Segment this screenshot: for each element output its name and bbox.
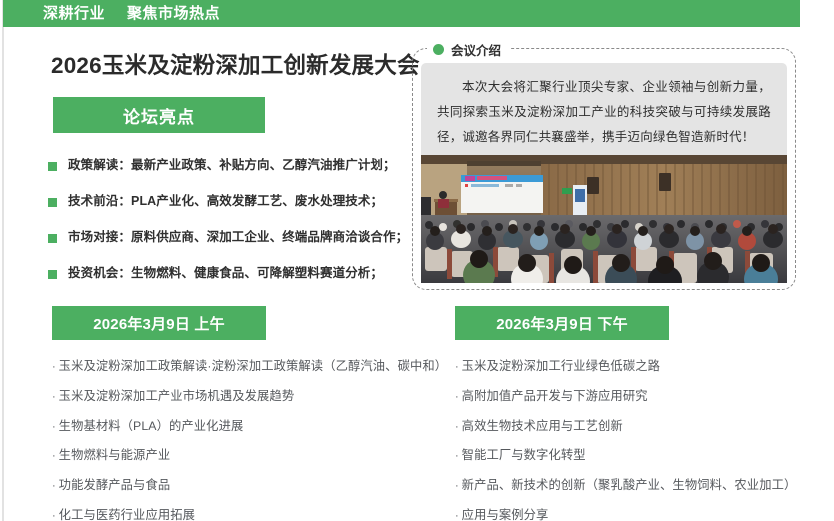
square-bullet-icon (48, 198, 57, 207)
agenda-topics-afternoon: · 玉米及淀粉深加工行业绿色低碳之路 · 高附加值产品开发与下游应用研究 · 高… (455, 359, 815, 521)
list-item: · 玉米及淀粉深加工行业绿色低碳之路 (455, 359, 815, 374)
list-item: · 高效生物技术应用与工艺创新 (455, 419, 815, 434)
agenda-topic: 玉米及淀粉深加工行业绿色低碳之路 (462, 359, 660, 374)
conference-intro-panel: 会议介绍 本次大会将汇聚行业顶尖专家、企业领袖与创新力量，共同探索玉米及淀粉深加… (412, 48, 796, 290)
ribbon-left-text: 深耕行业 (43, 6, 105, 21)
square-bullet-icon (48, 162, 57, 171)
agenda-date-bar-afternoon: 2026年3月9日 下午 (455, 306, 669, 340)
dot-bullet-icon: · (52, 481, 56, 492)
list-item: 政策解读：最新产业政策、补贴方向、乙醇汽油推广计划； (48, 158, 408, 172)
left-edge-rule (2, 0, 4, 521)
dot-bullet-icon: · (455, 392, 459, 403)
agenda-topic: 新产品、新技术的创新（聚乳酸产业、生物饲料、农业加工） (462, 478, 797, 493)
highlight-text: 市场对接：原料供应商、深加工企业、终端品牌商洽谈合作； (68, 230, 408, 244)
conference-intro-textbox: 本次大会将汇聚行业顶尖专家、企业领袖与创新力量，共同探索玉米及淀粉深加工产业的科… (421, 63, 787, 163)
dot-bullet-icon: · (52, 511, 56, 521)
poster-page: 深耕行业 聚焦市场热点 2026玉米及淀粉深加工创新发展大会 论坛亮点 政策解读… (0, 0, 834, 521)
header-ribbon-inner: 深耕行业 聚焦市场热点 (3, 0, 800, 27)
dot-bullet-icon: · (455, 451, 459, 462)
dot-bullet-icon: · (52, 392, 56, 403)
agenda-date-label-afternoon: 2026年3月9日 下午 (496, 313, 628, 334)
dot-bullet-icon: · (52, 451, 56, 462)
list-item: · 玉米及淀粉深加工政策解读·淀粉深加工政策解读（乙醇汽油、碳中和） (52, 359, 452, 374)
dot-bullet-icon: · (455, 422, 459, 433)
header-ribbon: 深耕行业 聚焦市场热点 (3, 0, 800, 27)
square-bullet-icon (48, 234, 57, 243)
list-item: 市场对接：原料供应商、深加工企业、终端品牌商洽谈合作； (48, 230, 408, 244)
agenda-topic: 生物燃料与能源产业 (59, 448, 171, 463)
agenda-topic: 应用与案例分享 (462, 508, 549, 521)
square-bullet-icon (48, 270, 57, 279)
forum-highlights-tag-label: 论坛亮点 (123, 103, 195, 128)
list-item: 技术前沿：PLA产业化、高效发酵工艺、废水处理技术； (48, 194, 408, 208)
dot-bullet-icon: · (52, 362, 56, 373)
list-item: · 应用与案例分享 (455, 508, 815, 521)
highlight-text: 技术前沿：PLA产业化、高效发酵工艺、废水处理技术； (68, 194, 383, 208)
agenda-topic: 玉米及淀粉深加工政策解读·淀粉深加工政策解读（乙醇汽油、碳中和） (59, 359, 448, 374)
dot-bullet-icon: · (455, 511, 459, 521)
agenda-date-bar-morning: 2026年3月9日 上午 (52, 306, 266, 340)
agenda-topic: 玉米及淀粉深加工产业市场机遇及发展趋势 (59, 389, 295, 404)
list-item: · 生物基材料（PLA）的产业化进展 (52, 419, 452, 434)
list-item: · 功能发酵产品与食品 (52, 478, 452, 493)
agenda-topic: 化工与医药行业应用拓展 (59, 508, 195, 521)
forum-highlights-tag: 论坛亮点 (53, 97, 265, 133)
green-dot-icon (433, 44, 444, 55)
list-item: 投资机会：生物燃料、健康食品、可降解塑料赛道分析； (48, 266, 408, 280)
dot-bullet-icon: · (52, 422, 56, 433)
agenda-topic: 生物基材料（PLA）的产业化进展 (59, 419, 244, 434)
highlight-text: 投资机会：生物燃料、健康食品、可降解塑料赛道分析； (68, 266, 383, 280)
venue-photo-illustration (421, 155, 787, 283)
conference-intro-legend: 会议介绍 (427, 38, 510, 60)
agenda-column-morning: 2026年3月9日 上午 · 玉米及淀粉深加工政策解读·淀粉深加工政策解读（乙醇… (52, 306, 452, 521)
conference-intro-legend-label: 会议介绍 (451, 40, 501, 59)
agenda-topic: 智能工厂与数字化转型 (462, 448, 586, 463)
list-item: · 高附加值产品开发与下游应用研究 (455, 389, 815, 404)
agenda-topics-morning: · 玉米及淀粉深加工政策解读·淀粉深加工政策解读（乙醇汽油、碳中和） · 玉米及… (52, 359, 452, 521)
dot-bullet-icon: · (455, 481, 459, 492)
conference-intro-paragraph: 本次大会将汇聚行业顶尖专家、企业领袖与创新力量，共同探索玉米及淀粉深加工产业的科… (437, 75, 771, 150)
agenda-topic: 功能发酵产品与食品 (59, 478, 171, 493)
list-item: · 生物燃料与能源产业 (52, 448, 452, 463)
ribbon-right-text: 聚焦市场热点 (127, 6, 220, 21)
highlight-text: 政策解读：最新产业政策、补贴方向、乙醇汽油推广计划； (68, 158, 396, 172)
page-title: 2026玉米及淀粉深加工创新发展大会 (51, 48, 420, 80)
agenda-date-label-morning: 2026年3月9日 上午 (93, 313, 225, 334)
list-item: · 新产品、新技术的创新（聚乳酸产业、生物饲料、农业加工） (455, 478, 815, 493)
list-item: · 玉米及淀粉深加工产业市场机遇及发展趋势 (52, 389, 452, 404)
highlights-list: 政策解读：最新产业政策、补贴方向、乙醇汽油推广计划； 技术前沿：PLA产业化、高… (48, 158, 408, 302)
agenda-topic: 高附加值产品开发与下游应用研究 (462, 389, 648, 404)
agenda-column-afternoon: 2026年3月9日 下午 · 玉米及淀粉深加工行业绿色低碳之路 · 高附加值产品… (455, 306, 815, 521)
agenda-topic: 高效生物技术应用与工艺创新 (462, 419, 623, 434)
dot-bullet-icon: · (455, 362, 459, 373)
list-item: · 智能工厂与数字化转型 (455, 448, 815, 463)
list-item: · 化工与医药行业应用拓展 (52, 508, 452, 521)
conference-venue-photo (421, 155, 787, 283)
